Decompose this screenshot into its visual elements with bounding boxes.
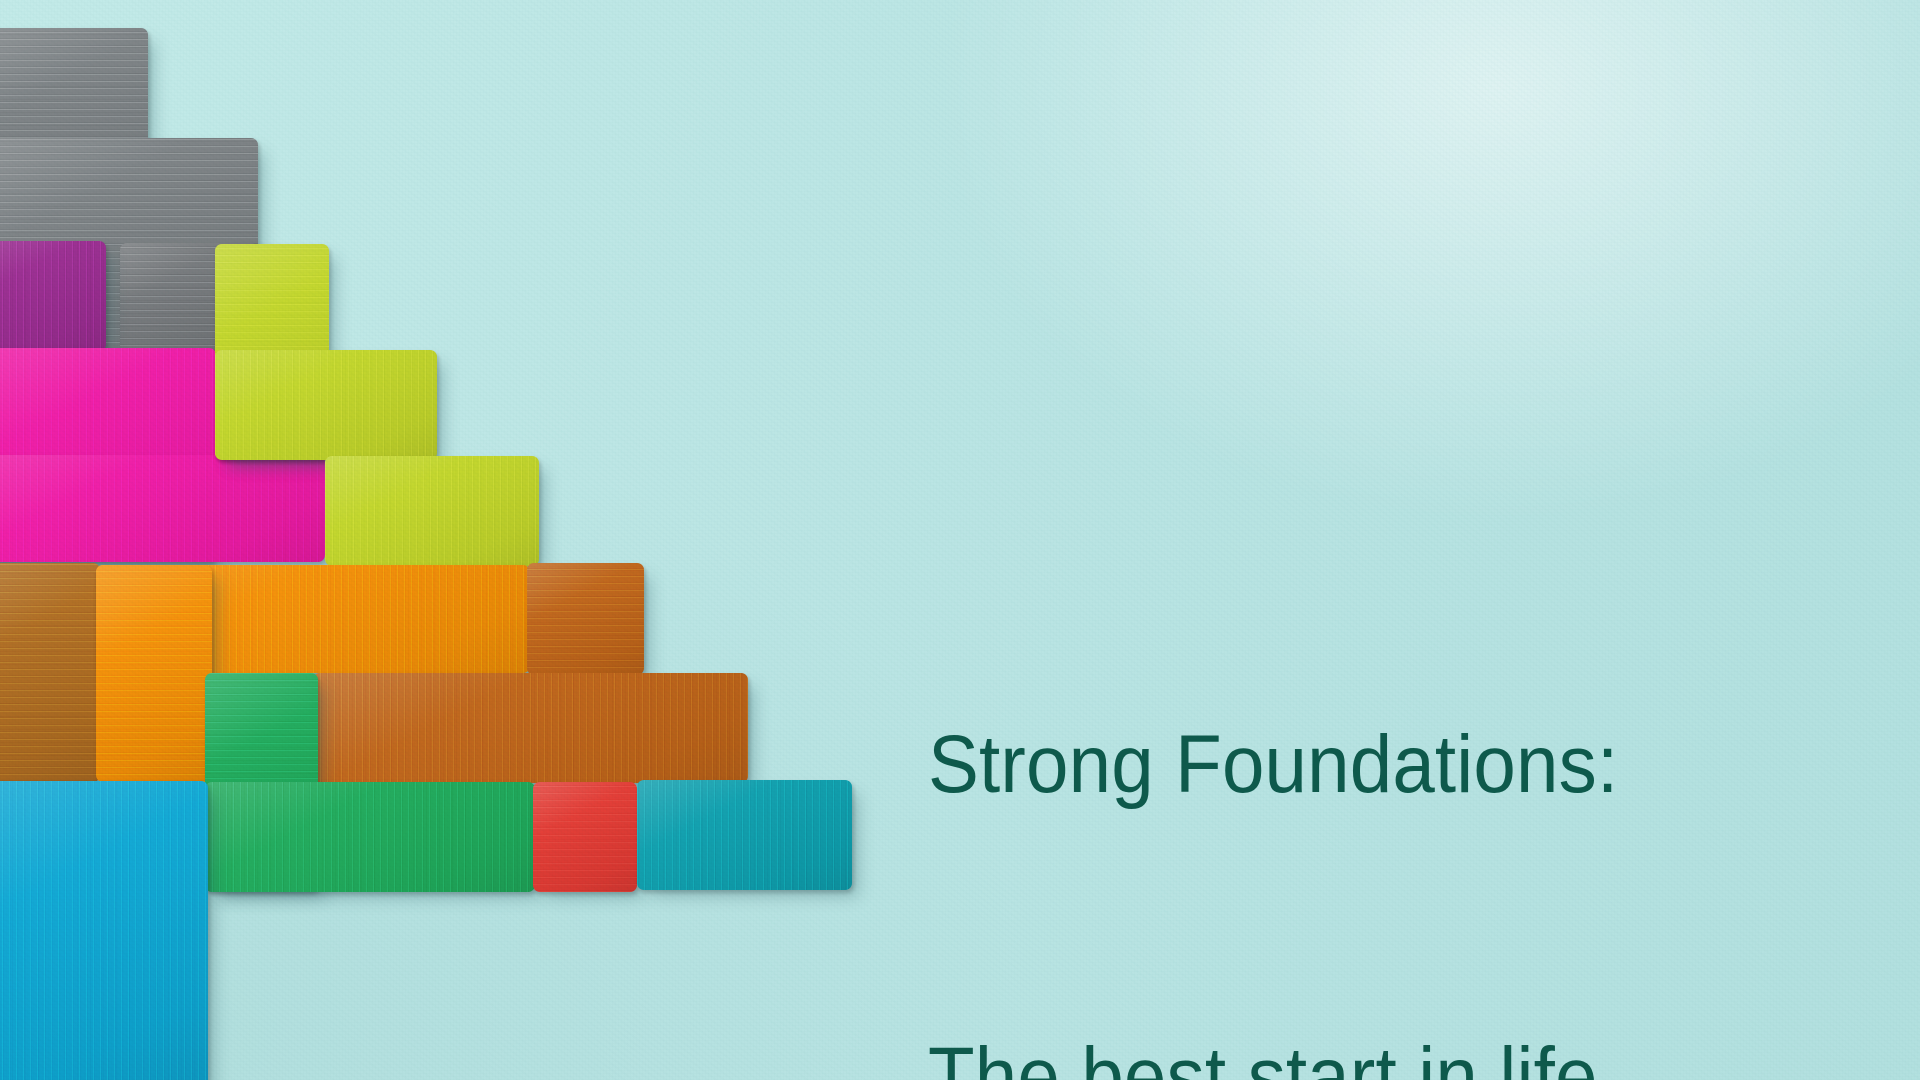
block-magenta-arm: [0, 455, 325, 562]
page-title: Strong Foundations: The best start in li…: [928, 505, 1618, 1080]
block-green-arm: [205, 782, 535, 892]
block-tan-left: [0, 563, 100, 782]
block-orange-stem: [96, 565, 212, 782]
headline-line-2: The best start in life: [928, 1025, 1618, 1080]
block-red: [533, 782, 637, 892]
block-lime-step: [325, 456, 539, 566]
headline-line-1: Strong Foundations:: [928, 713, 1618, 817]
block-cyan: [0, 781, 208, 1080]
block-lime-mid: [215, 350, 437, 460]
block-brown-upper: [527, 563, 644, 675]
block-purple: [0, 241, 106, 351]
poster-canvas: Strong Foundations: The best start in li…: [0, 0, 1920, 1080]
block-brown-arm: [313, 673, 748, 783]
block-teal: [637, 780, 852, 890]
